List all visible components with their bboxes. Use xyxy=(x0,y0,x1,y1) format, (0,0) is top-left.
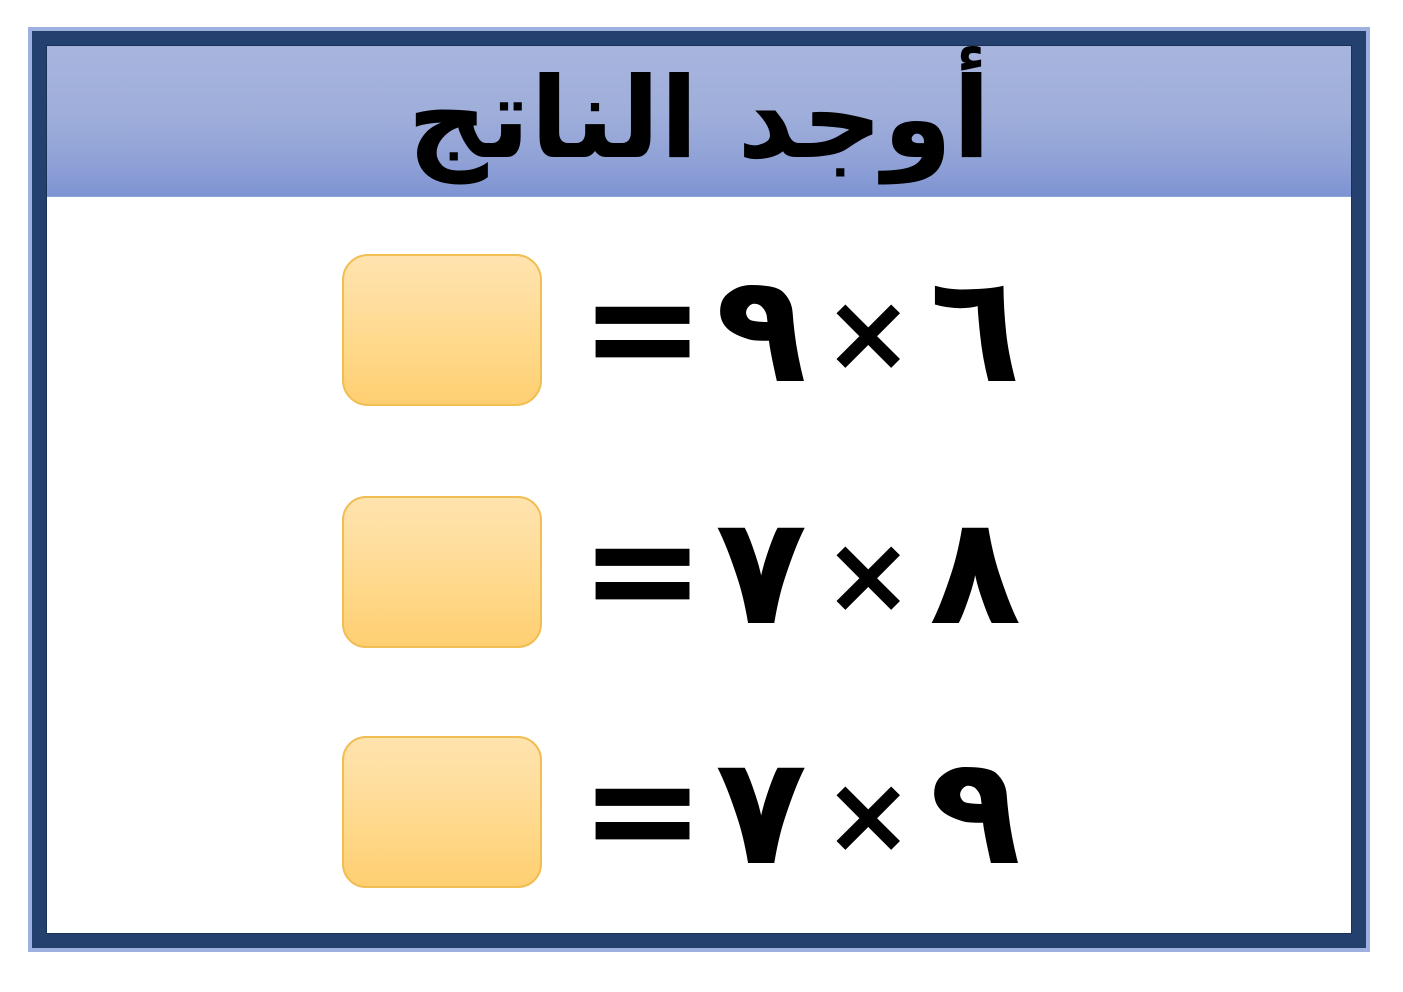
equation-expression: ٦ × ٩ = xyxy=(576,255,1021,405)
page-title: أوجد الناتج xyxy=(407,63,990,175)
equals-icon: = xyxy=(580,735,706,885)
answer-box[interactable] xyxy=(342,736,542,888)
worksheet-frame: أوجد الناتج ٦ × ٩ = ٨ × ٧ = xyxy=(28,27,1370,952)
equation-row: ٦ × ٩ = xyxy=(47,245,1351,415)
left-operand: ٩ xyxy=(929,737,1021,887)
equals-icon: = xyxy=(580,495,706,645)
equation-expression: ٩ × ٧ = xyxy=(576,737,1021,887)
right-operand: ٧ xyxy=(715,737,807,887)
worksheet-body: ٦ × ٩ = ٨ × ٧ = ٩ × xyxy=(47,197,1351,933)
left-operand: ٦ xyxy=(929,255,1021,405)
multiplication-icon: × xyxy=(823,522,914,630)
multiplication-icon: × xyxy=(823,762,914,870)
equation-row: ٩ × ٧ = xyxy=(47,727,1351,897)
answer-box[interactable] xyxy=(342,254,542,406)
header-banner: أوجد الناتج xyxy=(47,46,1351,197)
equation-expression: ٨ × ٧ = xyxy=(576,497,1021,647)
right-operand: ٩ xyxy=(715,255,807,405)
left-operand: ٨ xyxy=(929,497,1021,647)
multiplication-icon: × xyxy=(823,280,914,388)
right-operand: ٧ xyxy=(715,497,807,647)
answer-box[interactable] xyxy=(342,496,542,648)
equation-row: ٨ × ٧ = xyxy=(47,487,1351,657)
equals-icon: = xyxy=(580,253,706,403)
worksheet-inner: أوجد الناتج ٦ × ٩ = ٨ × ٧ = xyxy=(46,45,1352,934)
